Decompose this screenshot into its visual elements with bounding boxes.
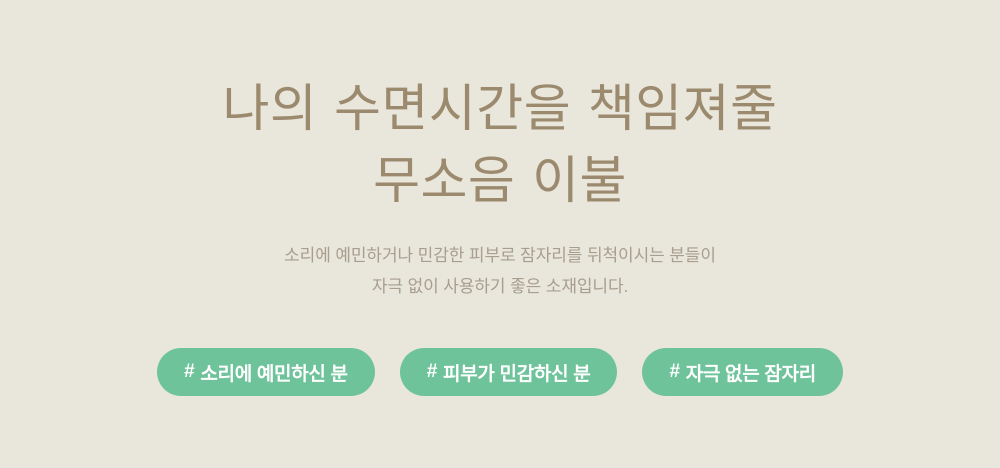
page-title: 나의 수면시간을 책임져줄 무소음 이불 <box>0 74 1000 218</box>
hash-icon: # <box>184 361 194 383</box>
hash-icon: # <box>427 361 437 383</box>
tag-pill-label: 피부가 민감하신 분 <box>443 359 590 386</box>
promo-banner: 나의 수면시간을 책임져줄 무소음 이불 소리에 예민하거나 민감한 피부로 잠… <box>0 0 1000 468</box>
headline-line-2: 무소음 이불 <box>0 146 1000 218</box>
subtitle: 소리에 예민하거나 민감한 피부로 잠자리를 뒤척이시는 분들이 자극 없이 사… <box>0 240 1000 302</box>
tag-pill-label: 소리에 예민하신 분 <box>200 359 347 386</box>
tag-pill-sound-sensitive[interactable]: # 소리에 예민하신 분 <box>157 348 375 396</box>
subtitle-line-2: 자극 없이 사용하기 좋은 소재입니다. <box>0 271 1000 302</box>
tag-list: # 소리에 예민하신 분 # 피부가 민감하신 분 # 자극 없는 잠자리 <box>0 348 1000 396</box>
headline-line-1: 나의 수면시간을 책임져줄 <box>0 74 1000 146</box>
hash-icon: # <box>669 361 679 383</box>
subtitle-line-1: 소리에 예민하거나 민감한 피부로 잠자리를 뒤척이시는 분들이 <box>0 240 1000 271</box>
tag-pill-irritation-free-sleep[interactable]: # 자극 없는 잠자리 <box>642 348 843 396</box>
tag-pill-sensitive-skin[interactable]: # 피부가 민감하신 분 <box>400 348 618 396</box>
tag-pill-label: 자극 없는 잠자리 <box>686 359 816 386</box>
